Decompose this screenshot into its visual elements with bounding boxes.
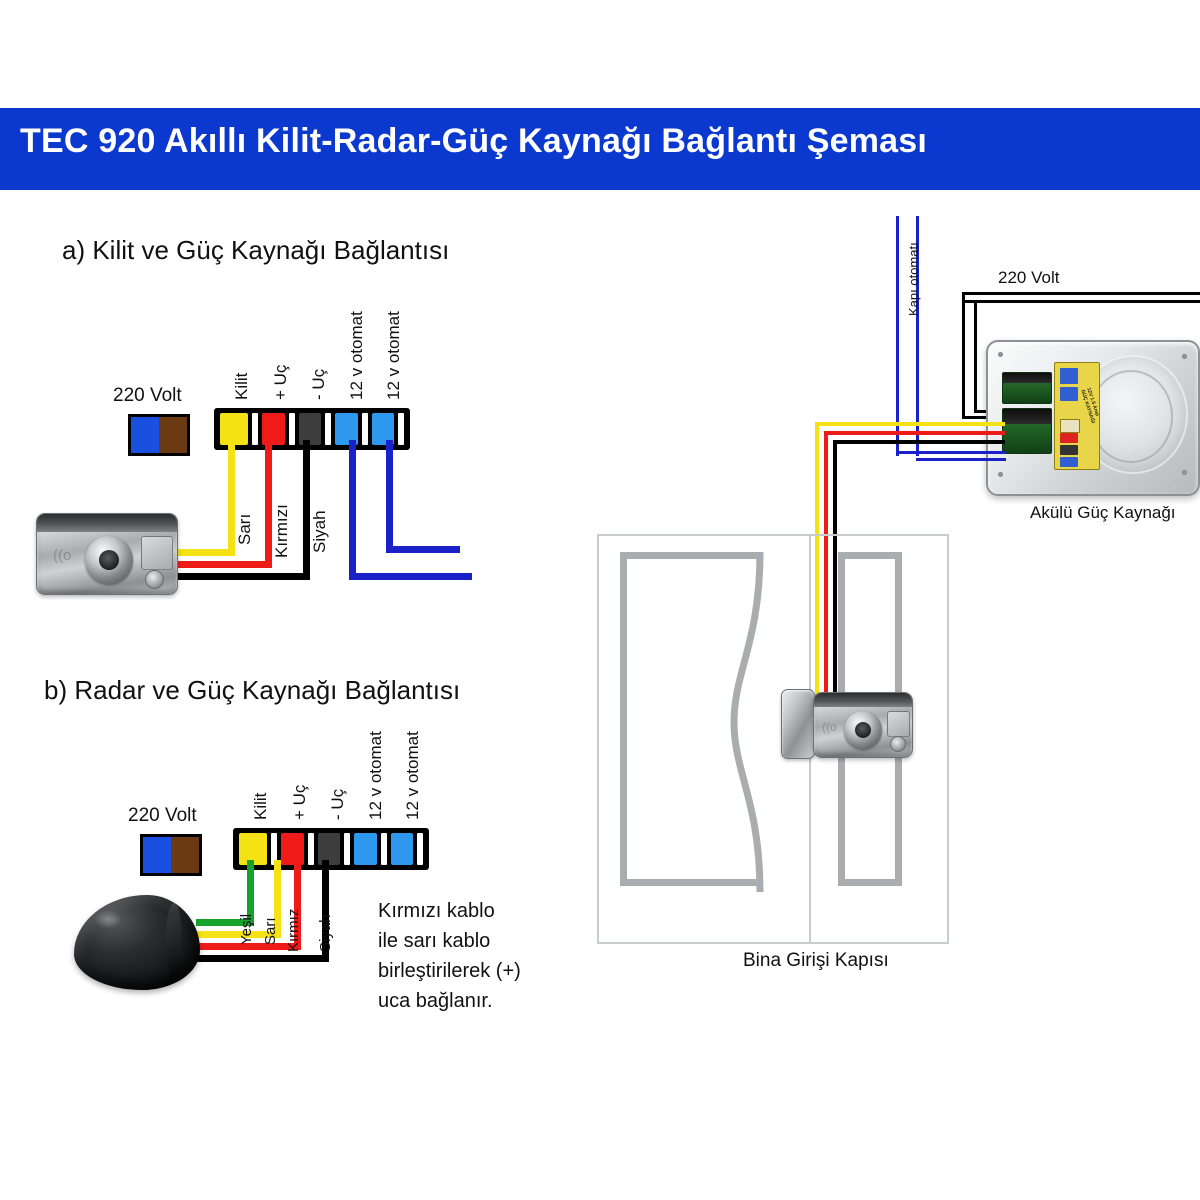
section-a-wire-label-kirmizi: Kırmızı [272, 504, 292, 558]
wire-mavi-2-horizontal [386, 546, 460, 553]
route-mavi-2-horizontal [916, 458, 1006, 461]
door-leaf-right-bottom [838, 879, 902, 886]
door-leaf-right-top [838, 552, 902, 559]
wire-mavi-2-vertical [386, 440, 393, 553]
door-caption: Bina Girişi Kapısı [743, 950, 889, 972]
psu-caption: Akülü Güç Kaynağı [1030, 503, 1176, 523]
door-mounted-lock-icon: ((o [813, 692, 913, 758]
route-mavi-1-horizontal [896, 451, 1006, 454]
page-title: TEC 920 Akıllı Kilit-Radar-Güç Kaynağı B… [20, 122, 927, 161]
wire-mavi-1-vertical [349, 440, 356, 580]
wire-siyah-vertical [303, 440, 310, 580]
wire-siyah-horizontal [172, 573, 310, 580]
door-leaf-left-side [620, 552, 627, 886]
right-panel-mains-label: 220 Volt [998, 268, 1059, 288]
section-b-note-line-1: Kırmızı kablo [378, 900, 495, 923]
psu-terminal-row-1[interactable] [1002, 372, 1052, 404]
door-frame-left [597, 534, 599, 944]
door-leaf-curve [716, 552, 776, 892]
door-frame-bottom [597, 942, 949, 944]
mains-drop-wire-1 [962, 292, 965, 418]
wire-kirmizi-vertical [265, 440, 272, 568]
radar-sensor-icon [74, 895, 200, 990]
diagram-canvas: TEC 920 Akıllı Kilit-Radar-Güç Kaynağı B… [0, 0, 1200, 1200]
section-b-wire-label-kirmizi: Kırmız [285, 909, 302, 952]
wire-mavi-1-horizontal [349, 573, 472, 580]
section-b-note-line-4: uca bağlanır. [378, 990, 493, 1013]
section-a-mains-label: 220 Volt [113, 385, 182, 407]
section-b-heading: b) Radar ve Güç Kaynağı Bağlantısı [44, 675, 460, 706]
wire-sari-horizontal [172, 549, 235, 556]
psu-terminal-row-2[interactable] [1002, 408, 1052, 454]
section-a-heading: a) Kilit ve Güç Kaynağı Bağlantısı [62, 235, 449, 266]
wire-b-siyah-horizontal [196, 955, 329, 962]
mains-drop-wire-2 [974, 300, 977, 412]
section-b-wire-label-yesil: Yeşil [238, 914, 255, 945]
wire-kirmizi-horizontal [172, 561, 272, 568]
route-kirmizi-horizontal [824, 431, 1005, 435]
elektrikli-kilit-icon: ((o [36, 513, 178, 595]
route-sari-horizontal [815, 422, 1005, 426]
section-b-wire-label-sari: Sarı [262, 917, 279, 945]
section-b-terminal-label-kilit: Kilit [251, 793, 271, 820]
psu-rating-plate: 12V 1.5 Amp GÜÇ KAYNAĞI [1054, 362, 1100, 470]
section-b-note-line-3: birleştirilerek (+) [378, 960, 521, 983]
section-a-terminal-label-12v-2: 12 v otomat [384, 311, 404, 400]
kapi-otomati-label: Kapı otomatı [906, 242, 921, 316]
akulu-guc-kaynagi: 12V 1.5 Amp GÜÇ KAYNAĞI [986, 340, 1196, 492]
section-b-terminal-label-plus: + Uç [290, 785, 310, 820]
section-b-terminal-label-12v-2: 12 v otomat [403, 731, 423, 820]
section-a-terminal-label-kilit: Kilit [232, 373, 252, 400]
door-strike-plate [781, 689, 815, 759]
section-a-terminal-strip[interactable] [214, 408, 410, 450]
door-frame-right [947, 534, 949, 944]
section-a-terminal-label-plus: + Uç [271, 365, 291, 400]
section-b-terminal-strip[interactable] [233, 828, 429, 870]
door-frame-top [597, 534, 949, 536]
mains-top-wire-1 [962, 292, 1200, 295]
section-a-mains-plug [128, 414, 190, 456]
section-b-mains-plug [140, 834, 202, 876]
section-a-terminal-label-minus: - Uç [309, 369, 329, 400]
route-siyah-horizontal [833, 440, 1005, 444]
section-b-terminal-label-minus: - Uç [328, 789, 348, 820]
section-b-mains-label: 220 Volt [128, 805, 197, 827]
section-b-note-line-2: ile sarı kablo [378, 930, 490, 953]
section-b-wire-label-siyah: Siyah [317, 914, 334, 952]
section-b-terminal-label-12v-1: 12 v otomat [366, 731, 386, 820]
section-a-wire-label-siyah: Siyah [310, 510, 330, 553]
wire-sari-vertical [228, 440, 235, 556]
wire-kapi-otomati-1 [896, 216, 899, 456]
section-a-terminal-label-12v-1: 12 v otomat [347, 311, 367, 400]
section-a-wire-label-sari: Sarı [235, 514, 255, 545]
mains-top-wire-2 [962, 300, 1200, 303]
